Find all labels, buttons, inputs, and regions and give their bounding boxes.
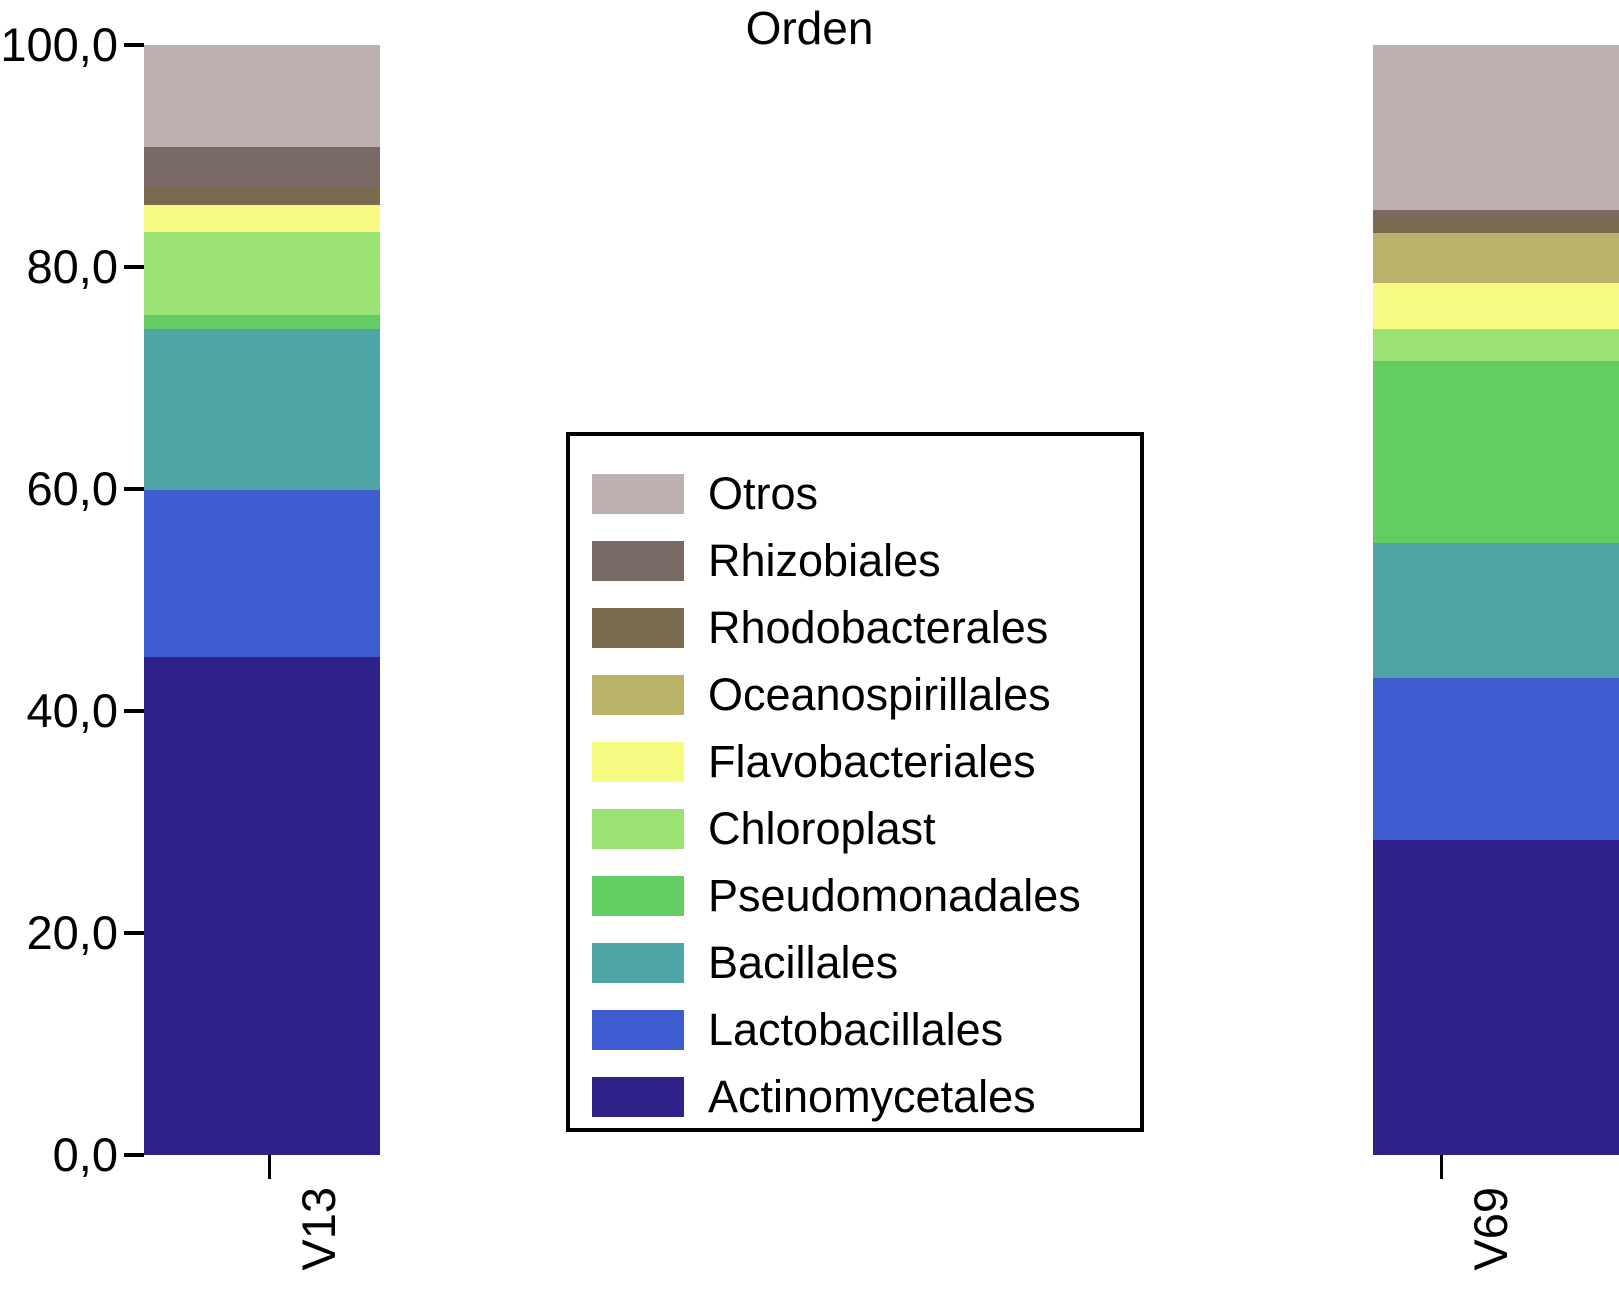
- bar-segment[interactable]: [1373, 210, 1619, 217]
- legend-color-swatch: [592, 742, 684, 782]
- y-axis-tick-mark: [124, 265, 144, 269]
- bar-segment[interactable]: [144, 205, 380, 232]
- legend-item-label: Chloroplast: [708, 805, 936, 853]
- legend-item[interactable]: Oceanospirillales: [592, 661, 1140, 728]
- legend-color-swatch: [592, 943, 684, 983]
- legend-color-swatch: [592, 876, 684, 916]
- legend-color-swatch: [592, 1010, 684, 1050]
- bar-segment[interactable]: [1373, 361, 1619, 543]
- y-axis-tick-label: 40,0: [27, 683, 118, 739]
- stacked-bar[interactable]: [1373, 45, 1619, 1155]
- legend-item[interactable]: Pseudomonadales: [592, 862, 1140, 929]
- legend-item-label: Lactobacillales: [708, 1006, 1003, 1054]
- legend-item-label: Pseudomonadales: [708, 872, 1081, 920]
- legend-item[interactable]: Chloroplast: [592, 795, 1140, 862]
- stacked-bar[interactable]: [144, 45, 380, 1155]
- legend-color-swatch: [592, 675, 684, 715]
- legend-color-swatch: [592, 809, 684, 849]
- legend-item[interactable]: Bacillales: [592, 929, 1140, 996]
- x-axis-tick-label: V13: [294, 1187, 344, 1271]
- y-axis-tick-mark: [124, 43, 144, 47]
- bar-segment[interactable]: [1373, 45, 1619, 210]
- chart-page: Orden 100,080,060,040,020,00,0 V13V69 Ot…: [0, 0, 1619, 1300]
- bar-segment[interactable]: [144, 45, 380, 147]
- y-axis-tick-mark: [124, 931, 144, 935]
- bar-segment[interactable]: [144, 232, 380, 315]
- bar-segment[interactable]: [1373, 840, 1619, 1155]
- y-axis-tick-label: 100,0: [0, 17, 118, 73]
- bar-segment[interactable]: [1373, 543, 1619, 677]
- legend-item-label: Oceanospirillales: [708, 671, 1051, 719]
- x-axis-tick-label: V69: [1466, 1187, 1516, 1271]
- bar-segment[interactable]: [1373, 678, 1619, 840]
- chart-legend: OtrosRhizobialesRhodobacteralesOceanospi…: [566, 432, 1144, 1132]
- legend-item-label: Actinomycetales: [708, 1073, 1036, 1121]
- x-axis-tick-mark: [1440, 1155, 1443, 1179]
- bar-segment[interactable]: [1373, 217, 1619, 233]
- legend-item-label: Bacillales: [708, 939, 898, 987]
- bar-segment[interactable]: [1373, 233, 1619, 283]
- bar-segment[interactable]: [144, 315, 380, 329]
- bar-segment[interactable]: [1373, 283, 1619, 330]
- legend-item-label: Rhizobiales: [708, 537, 941, 585]
- legend-item[interactable]: Actinomycetales: [592, 1063, 1140, 1130]
- legend-color-swatch: [592, 541, 684, 581]
- legend-item[interactable]: Rhodobacterales: [592, 594, 1140, 661]
- y-axis-tick-label: 20,0: [27, 905, 118, 961]
- legend-color-swatch: [592, 608, 684, 648]
- x-axis-tick-mark: [268, 1155, 271, 1179]
- legend-color-swatch: [592, 1077, 684, 1117]
- y-axis-tick-mark: [124, 487, 144, 491]
- legend-item[interactable]: Otros: [592, 460, 1140, 527]
- y-axis-tick-label: 0,0: [53, 1127, 118, 1183]
- y-axis-tick-label: 60,0: [27, 461, 118, 517]
- bar-segment[interactable]: [144, 147, 380, 187]
- legend-item-label: Rhodobacterales: [708, 604, 1048, 652]
- legend-item-label: Flavobacteriales: [708, 738, 1036, 786]
- y-axis-tick-label: 80,0: [27, 239, 118, 295]
- bar-segment[interactable]: [1373, 329, 1619, 361]
- legend-item-label: Otros: [708, 470, 818, 518]
- legend-item[interactable]: Flavobacteriales: [592, 728, 1140, 795]
- y-axis-tick-mark: [124, 1153, 144, 1157]
- bar-segment[interactable]: [144, 490, 380, 657]
- bar-segment[interactable]: [144, 187, 380, 205]
- y-axis-tick-mark: [124, 709, 144, 713]
- legend-item[interactable]: Lactobacillales: [592, 996, 1140, 1063]
- bar-segment[interactable]: [144, 657, 380, 1155]
- bar-segment[interactable]: [144, 329, 380, 490]
- legend-color-swatch: [592, 474, 684, 514]
- legend-item[interactable]: Rhizobiales: [592, 527, 1140, 594]
